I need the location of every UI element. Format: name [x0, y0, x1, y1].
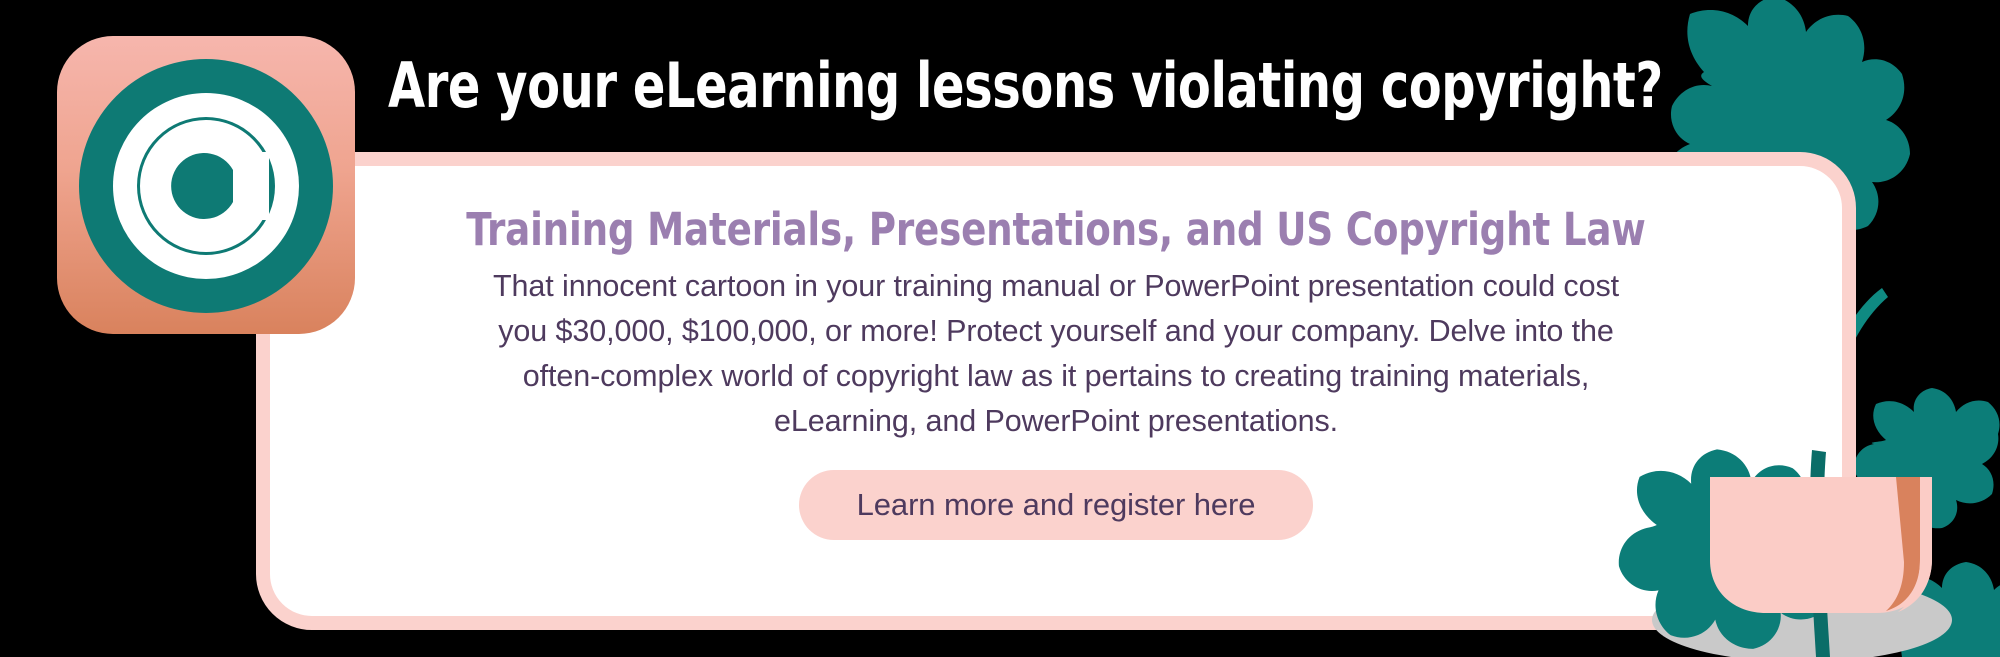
monstera-leaf-midright-icon — [1854, 388, 2000, 528]
card-body-copy: That innocent cartoon in your training m… — [386, 264, 1726, 444]
body-line-2: you $30,000, $100,000, or more! Protect … — [386, 309, 1726, 354]
page-title: Are your eLearning lessons violating cop… — [388, 52, 1480, 120]
monstera-leaf-lowright-icon — [1894, 562, 2000, 657]
promo-card: Training Materials, Presentations, and U… — [256, 152, 1856, 630]
promo-banner: Training Materials, Presentations, and U… — [0, 0, 2000, 657]
body-line-3: often-complex world of copyright law as … — [386, 354, 1726, 399]
body-line-4: eLearning, and PowerPoint presentations. — [386, 399, 1726, 444]
copyright-logo — [57, 36, 355, 334]
body-line-1: That innocent cartoon in your training m… — [386, 264, 1726, 309]
promo-card-content: Training Materials, Presentations, and U… — [270, 166, 1842, 616]
learn-more-register-button[interactable]: Learn more and register here — [799, 470, 1314, 540]
copyright-c-icon — [57, 36, 355, 334]
card-subtitle: Training Materials, Presentations, and U… — [466, 204, 1645, 256]
